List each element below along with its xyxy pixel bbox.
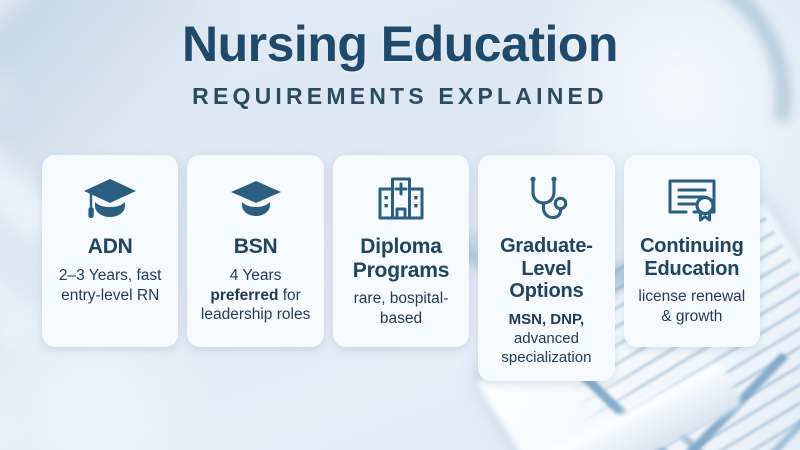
card-bsn: BSN 4 Years preferred for leadership rol… bbox=[187, 155, 323, 347]
poster-header: Nursing Education REQUIREMENTS EXPLAINED bbox=[0, 16, 800, 109]
page-title: Nursing Education bbox=[0, 16, 800, 72]
card-title: Diploma Programs bbox=[339, 235, 463, 282]
card-title: ADN bbox=[88, 235, 133, 259]
card-title: BSN bbox=[234, 235, 278, 259]
certificate-icon bbox=[664, 171, 720, 227]
card-body: 4 Years preferred for leadership roles bbox=[193, 266, 317, 325]
hospital-building-icon bbox=[375, 171, 427, 227]
card-title: Continuing Education bbox=[630, 235, 754, 280]
card-body: license renewal & growth bbox=[630, 287, 754, 327]
graduation-cap-icon bbox=[229, 171, 283, 227]
card-adn: ADN 2–3 Years, fast entry-level RN bbox=[42, 155, 178, 347]
card-body: MSN, DNP, advanced specialization bbox=[484, 310, 608, 368]
card-body: 2–3 Years, fast entry-level RN bbox=[48, 266, 172, 306]
stethoscope-icon bbox=[521, 171, 571, 227]
card-row: ADN 2–3 Years, fast entry-level RN BSN 4… bbox=[42, 155, 760, 381]
card-diploma-programs: Diploma Programs rare, bospital-based bbox=[333, 155, 469, 347]
graduation-cap-icon bbox=[82, 171, 138, 227]
infographic-poster: Nursing Education REQUIREMENTS EXPLAINED… bbox=[0, 0, 800, 450]
page-subtitle: REQUIREMENTS EXPLAINED bbox=[0, 84, 800, 109]
card-continuing-education: Continuing Education license renewal & g… bbox=[624, 155, 760, 347]
card-title: Graduate-Level Options bbox=[484, 235, 608, 303]
card-graduate-level-options: Graduate-Level Options MSN, DNP, advance… bbox=[478, 155, 614, 381]
card-body: rare, bospital-based bbox=[339, 289, 463, 329]
